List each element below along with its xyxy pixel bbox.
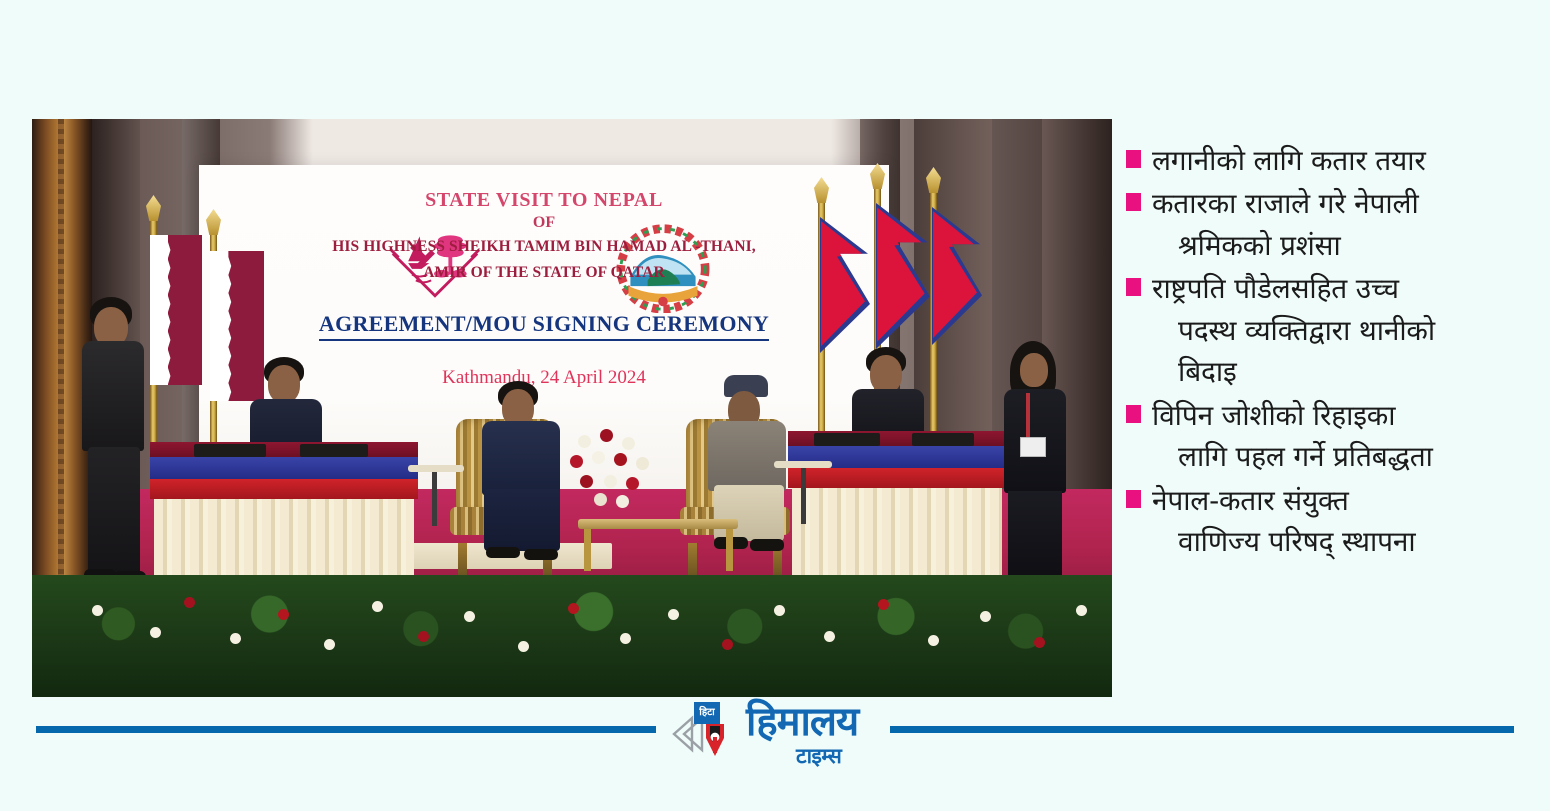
coffee-table [578, 519, 738, 529]
standing-staff-right [992, 341, 1076, 591]
bullet-square-icon [1126, 490, 1141, 508]
news-photo: STATE VISIT TO NEPAL OF HIS HIGHNESS SHE… [32, 119, 1112, 697]
standing-official-left [68, 297, 158, 587]
headline-item-1[interactable]: लगानीको लागि कतार तयार [1126, 140, 1530, 181]
headline-text-3-line-2: पदस्थ व्यक्तिद्वारा थानीको [1152, 310, 1435, 351]
footer-rule-left [36, 726, 656, 733]
signing-table-left [150, 442, 418, 592]
headline-list: लगानीको लागि कतार तयार कतारका राजाले गरे… [1126, 140, 1530, 564]
logo-subwordmark: टाइम्स [796, 746, 841, 767]
headline-text-5-line-1: नेपाल-कतार संयुक्त [1152, 484, 1349, 517]
headline-item-4[interactable]: विपिन जोशीको रिहाइका लागि पहल गर्ने प्रत… [1126, 395, 1530, 478]
banner-line-5: AGREEMENT/MOU SIGNING CEREMONY [319, 311, 769, 341]
headline-text-4-line-1: विपिन जोशीको रिहाइका [1152, 399, 1395, 432]
bullet-square-icon [1126, 405, 1141, 423]
bullet-square-icon [1126, 150, 1141, 168]
foreground-flower-hedge [32, 575, 1112, 697]
side-table-left [408, 465, 464, 472]
himalaya-times-logo[interactable]: हिटा हिमालय टाइम्स [672, 700, 886, 782]
bullet-square-icon [1126, 193, 1141, 211]
headline-text-4-line-2: लागि पहल गर्ने प्रतिबद्धता [1152, 436, 1433, 477]
headline-item-2[interactable]: कतारका राजाले गरे नेपाली श्रमिकको प्रशंस… [1126, 183, 1530, 266]
amir-of-qatar [474, 381, 570, 561]
page-root: STATE VISIT TO NEPAL OF HIS HIGHNESS SHE… [0, 0, 1550, 811]
logo-tag-badge: हिटा [694, 702, 720, 724]
logo-wordmark: हिमालय [746, 702, 858, 742]
banner-line-3: HIS HIGHNESS SHEIKH TAMIM BIN HAMAD AL -… [199, 236, 889, 258]
bullet-square-icon [1126, 278, 1141, 296]
side-table-right [774, 461, 832, 468]
headline-text-2-line-1: कतारका राजाले गरे नेपाली [1152, 187, 1419, 220]
banner-line-4: AMIR OF THE STATE OF QATAR [199, 262, 889, 284]
headline-text-2-line-2: श्रमिकको प्रशंसा [1152, 225, 1419, 266]
signing-table-right [788, 431, 1006, 581]
headline-text-1: लगानीको लागि कतार तयार [1152, 140, 1426, 181]
footer-rule-right [890, 726, 1514, 733]
headline-text-3-line-1: राष्ट्रपति पौडेलसहित उच्च [1152, 272, 1399, 305]
headline-item-3[interactable]: राष्ट्रपति पौडेलसहित उच्च पदस्थ व्यक्तिद… [1126, 268, 1530, 392]
headline-item-5[interactable]: नेपाल-कतार संयुक्त वाणिज्य परिषद् स्थापन… [1126, 480, 1530, 563]
headline-text-5-line-2: वाणिज्य परिषद् स्थापना [1152, 521, 1415, 562]
banner-line-1: STATE VISIT TO NEPAL [199, 189, 889, 212]
headline-text-3-line-3: बिदाइ [1152, 351, 1435, 392]
flower-bouquet [560, 419, 670, 511]
banner-line-2: OF [199, 214, 889, 232]
